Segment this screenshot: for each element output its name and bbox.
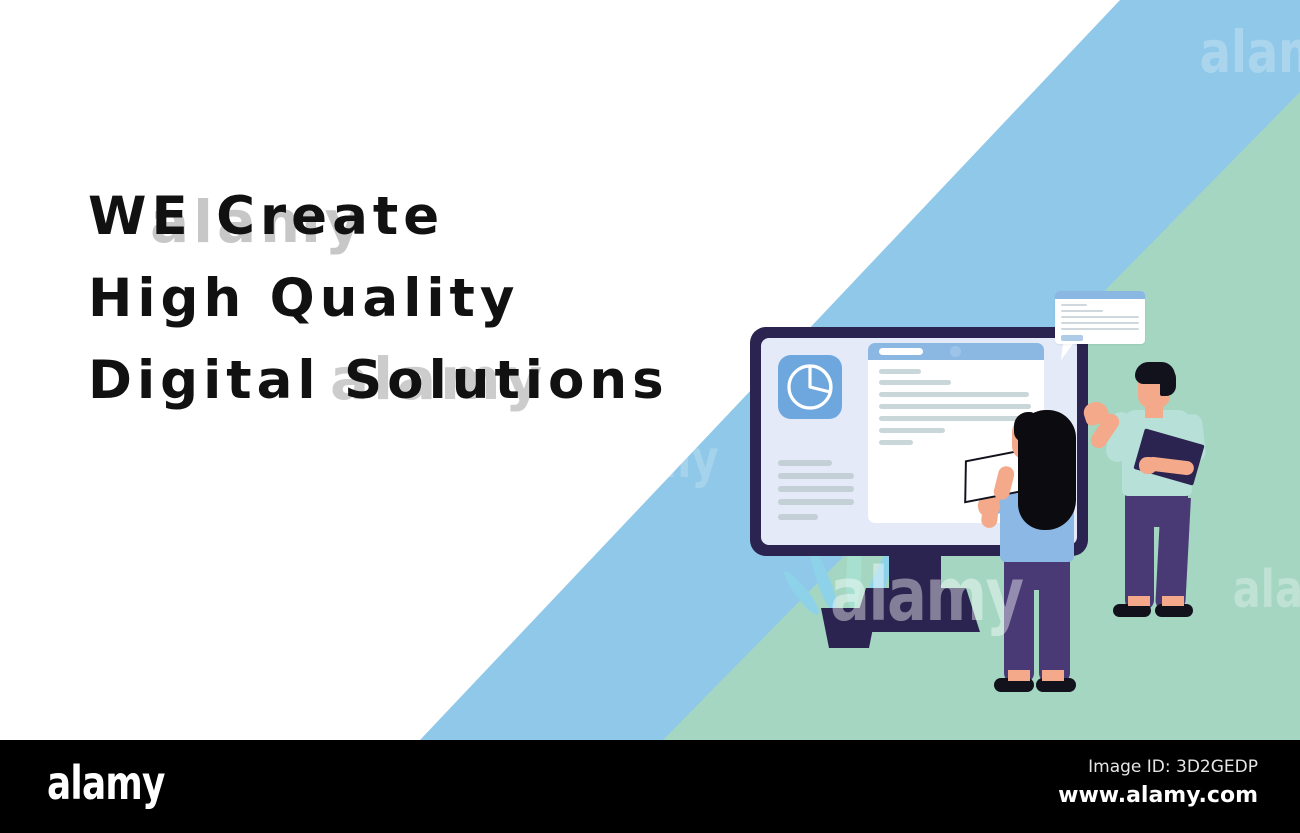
card-text-line: [879, 416, 1029, 421]
page-title: WE Create High Quality Digital Solutions: [88, 176, 669, 422]
poster-canvas: alamy WE Create High Quality Digital Sol…: [0, 0, 1300, 833]
chat-text-line: [1061, 310, 1103, 312]
chat-text-line: [1061, 304, 1087, 306]
image-id-label: Image ID: 3D2GEDP: [1088, 757, 1258, 777]
woman-hair-front: [1014, 412, 1036, 442]
man-ankle-right: [1162, 596, 1184, 606]
text-placeholder-line: [778, 486, 854, 492]
alamy-watermark-ml: alamy: [578, 430, 719, 490]
woman-ankle-left: [1008, 670, 1030, 681]
alamy-watermark-overlay: alamy: [830, 552, 1022, 638]
man-hand-right: [1139, 457, 1157, 474]
text-placeholder-line: [778, 499, 854, 505]
card-text-line: [879, 380, 951, 385]
chat-text-line: [1061, 328, 1139, 330]
pie-chart-glyph: [778, 355, 842, 419]
woman-ankle-right: [1042, 670, 1064, 681]
footer-bar: alamy Image ID: 3D2GEDP www.alamy.com: [0, 740, 1300, 833]
website-label: www.alamy.com: [1058, 783, 1258, 808]
chat-bubble: [1055, 291, 1145, 344]
card-text-line: [879, 369, 921, 374]
pie-chart-icon: [778, 355, 842, 419]
man-hair-side: [1160, 368, 1176, 396]
alamy-watermark-tr: alamy: [1200, 18, 1300, 86]
headline-line-2: High Quality: [88, 258, 669, 340]
alamy-logo: alamy: [47, 756, 165, 810]
card-text-line: [879, 440, 913, 445]
chat-bubble-header: [1055, 291, 1145, 299]
text-placeholder-line: [778, 460, 832, 466]
card-avatar-icon: [950, 346, 961, 357]
alamy-watermark-br: alamy: [1233, 560, 1300, 620]
card-text-line: [879, 404, 1031, 409]
card-header: [868, 343, 1044, 360]
card-title-placeholder: [879, 348, 923, 355]
text-placeholder-line: [778, 514, 818, 520]
chat-text-line: [1061, 322, 1139, 324]
card-text-line: [879, 428, 945, 433]
chat-text-line: [1061, 316, 1139, 318]
headline-line-3: Digital Solutions: [88, 340, 669, 422]
card-text-line: [879, 392, 1029, 397]
text-placeholder-line: [778, 473, 854, 479]
chat-action-button[interactable]: [1061, 335, 1083, 341]
headline-line-1: WE Create: [88, 176, 669, 258]
man-ankle-left: [1128, 596, 1150, 606]
